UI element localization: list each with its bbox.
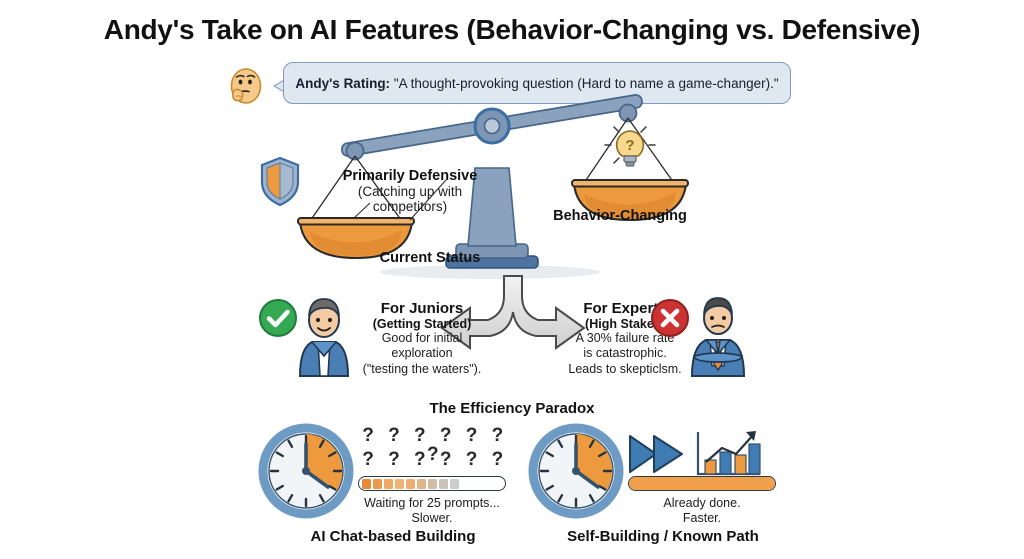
- rating-text: Andy's Rating: "A thought-provoking ques…: [295, 76, 778, 91]
- infographic-canvas: Andy's Take on AI Features (Behavior-Cha…: [0, 0, 1024, 559]
- juniors-body-3: ("testing the waters").: [342, 362, 502, 377]
- panel-self-building: Already done. Faster. Self-Building / Kn…: [528, 424, 798, 554]
- panel-left-label: AI Chat-based Building: [258, 528, 528, 545]
- defensive-title: Primarily Defensive: [320, 168, 500, 184]
- experts-body-3: Leads to skepticlsm.: [540, 362, 710, 377]
- juniors-title: For Juniors: [342, 300, 502, 317]
- svg-text:?: ?: [625, 137, 634, 154]
- rating-callout: Andy's Rating: "A thought-provoking ques…: [225, 62, 805, 108]
- panel-right-caption-1: Already done.: [620, 496, 784, 511]
- red-x-icon: [650, 298, 690, 338]
- juniors-body-1: Good for initial: [342, 331, 502, 346]
- question-marks-row-2: ? ? ? ? ? ?: [360, 450, 510, 469]
- green-check-icon: [258, 298, 298, 338]
- progress-bar-fast: [628, 476, 776, 491]
- clock-icon: [260, 424, 352, 518]
- page-title: Andy's Take on AI Features (Behavior-Cha…: [0, 14, 1024, 46]
- panel-left-caption-2: Slower.: [350, 511, 514, 526]
- shield-icon: [262, 158, 298, 205]
- panel-left-caption: Waiting for 25 prompts... Slower.: [350, 496, 514, 526]
- thinking-face-icon: [225, 66, 269, 110]
- rating-prefix: Andy's Rating:: [295, 76, 390, 91]
- experts-body-2: is catastrophic.: [540, 346, 710, 361]
- panel-right-caption-2: Faster.: [620, 511, 784, 526]
- progress-bar-slow: [358, 476, 506, 491]
- panel-right-caption: Already done. Faster.: [620, 496, 784, 526]
- rating-quote: "A thought-provoking question (Hard to n…: [394, 76, 779, 91]
- growth-bar-chart-icon: [692, 428, 764, 480]
- defensive-label-group: Primarily Defensive (Catching up with co…: [320, 168, 500, 214]
- juniors-subtitle: (Getting Started): [342, 317, 502, 331]
- current-status-label: Current Status: [360, 250, 500, 266]
- paradox-heading: The Efficiency Paradox: [0, 400, 1024, 417]
- panel-ai-chat-building: ? ? ? ? ? ? ? ? ? ? ? ? ? Waiting for 25…: [258, 424, 528, 554]
- rating-bubble: Andy's Rating: "A thought-provoking ques…: [283, 62, 791, 104]
- behavior-changing-label: Behavior-Changing: [530, 208, 710, 224]
- fast-forward-icon: [628, 432, 688, 476]
- expert-person-icon: [686, 290, 750, 376]
- panel-left-caption-1: Waiting for 25 prompts...: [350, 496, 514, 511]
- clock-icon: [530, 424, 622, 518]
- audience-split-group: For Juniors (Getting Started) Good for i…: [250, 288, 770, 396]
- defensive-sub-2: competitors): [320, 199, 500, 214]
- juniors-text-block: For Juniors (Getting Started) Good for i…: [342, 300, 502, 377]
- balance-scale-group: ? Primarily Defensive (Catching up with …: [250, 108, 720, 280]
- juniors-body-2: exploration: [342, 346, 502, 361]
- defensive-sub-1: (Catching up with: [320, 184, 500, 199]
- panel-right-label: Self-Building / Known Path: [528, 528, 798, 545]
